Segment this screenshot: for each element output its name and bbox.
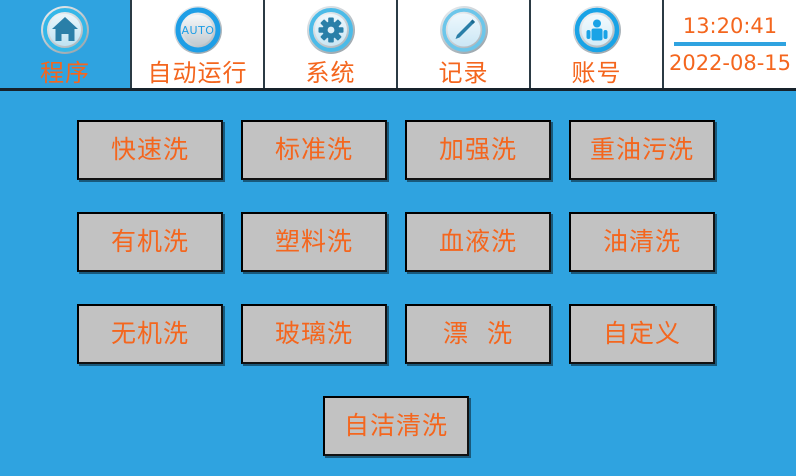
clock-divider [674,42,786,46]
program-quick-wash[interactable]: 快速洗 [77,120,223,180]
tab-system[interactable]: 系统 [265,0,398,88]
person-icon [571,4,623,56]
program-button-label: 重油污洗 [590,136,694,164]
program-button-label: 漂 洗 [443,320,513,348]
home-icon [39,4,91,56]
program-button-label: 塑料洗 [275,228,353,256]
tab-auto-run-label: 自动运行 [148,58,248,88]
program-glass-wash[interactable]: 玻璃洗 [241,304,387,364]
program-button-label: 快速洗 [111,136,189,164]
tab-account-label: 账号 [572,58,622,88]
program-oil-clean[interactable]: 油清洗 [569,212,715,272]
program-blood-wash[interactable]: 血液洗 [405,212,551,272]
program-organic-wash[interactable]: 有机洗 [77,212,223,272]
svg-text:AUTO: AUTO [181,24,214,37]
program-button-label: 玻璃洗 [275,320,353,348]
program-button-label: 无机洗 [111,320,189,348]
program-intensive-wash[interactable]: 加强洗 [405,120,551,180]
program-button-label: 自定义 [603,320,681,348]
gear-icon [305,4,357,56]
tab-system-label: 系统 [306,58,356,88]
hmi-screen: 程序 [0,0,796,476]
program-plastic-wash[interactable]: 塑料洗 [241,212,387,272]
tab-records-label: 记录 [439,58,489,88]
program-button-label: 自洁清洗 [344,412,448,440]
tab-account[interactable]: 账号 [531,0,664,88]
program-custom[interactable]: 自定义 [569,304,715,364]
program-standard-wash[interactable]: 标准洗 [241,120,387,180]
program-inorganic-wash[interactable]: 无机洗 [77,304,223,364]
program-self-clean-wash[interactable]: 自洁清洗 [323,396,469,456]
top-tab-bar: 程序 [0,0,796,91]
tab-records[interactable]: 记录 [398,0,531,88]
program-button-grid: 快速洗 标准洗 加强洗 重油污洗 有机洗 塑料洗 血液洗 油清洗 无机洗 玻璃洗 [0,91,796,476]
auto-icon: AUTO [172,4,224,56]
program-button-label: 血液洗 [439,228,517,256]
program-button-label: 油清洗 [603,228,681,256]
pencil-icon [438,4,490,56]
program-rinse[interactable]: 漂 洗 [405,304,551,364]
program-button-label: 加强洗 [439,136,517,164]
clock-time: 13:20:41 [683,12,777,40]
datetime-panel: 13:20:41 2022-08-15 [664,0,796,88]
clock-date: 2022-08-15 [669,49,791,77]
tab-program-label: 程序 [40,58,90,88]
program-heavy-grease-wash[interactable]: 重油污洗 [569,120,715,180]
tab-program[interactable]: 程序 [0,0,132,88]
tab-auto-run[interactable]: AUTO 自动运行 [132,0,265,88]
program-button-label: 有机洗 [111,228,189,256]
program-button-label: 标准洗 [275,136,353,164]
